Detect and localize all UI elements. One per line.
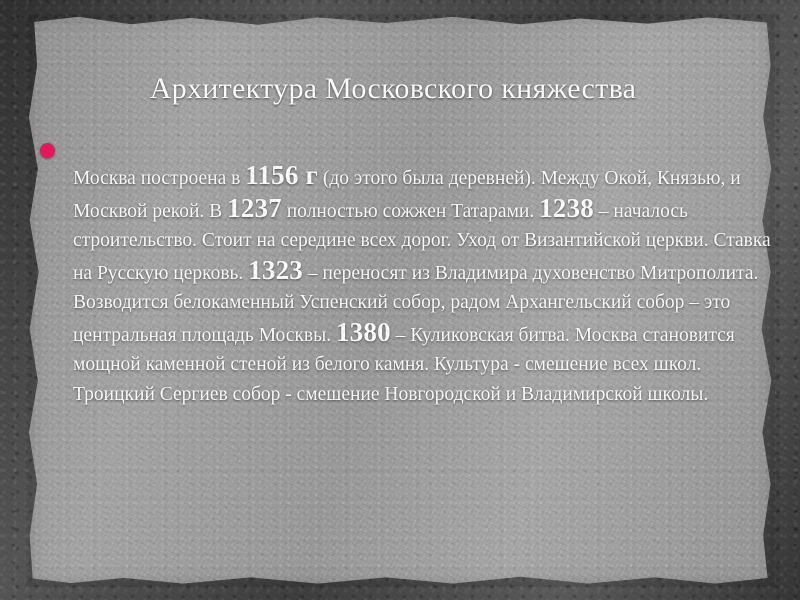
body-text-run: Москва построена в: [73, 168, 245, 189]
emphasized-date: 1237: [227, 193, 282, 223]
emphasized-date: 1323: [248, 255, 303, 285]
slide-title: Архитектура Московского княжества: [0, 72, 800, 106]
body-text-run: полностью сожжен Татарами.: [282, 201, 539, 222]
slide-content: Архитектура Московского княжества Москва…: [0, 0, 800, 600]
emphasized-date: 1238: [539, 193, 594, 223]
filled-circle-bullet-icon: [40, 143, 55, 158]
presentation-slide: Архитектура Московского княжества Москва…: [0, 0, 800, 600]
emphasized-date: 1380: [336, 317, 391, 347]
emphasized-date: 1156 г: [245, 160, 318, 190]
slide-body-paragraph: Москва построена в 1156 г (до этого была…: [73, 161, 773, 409]
